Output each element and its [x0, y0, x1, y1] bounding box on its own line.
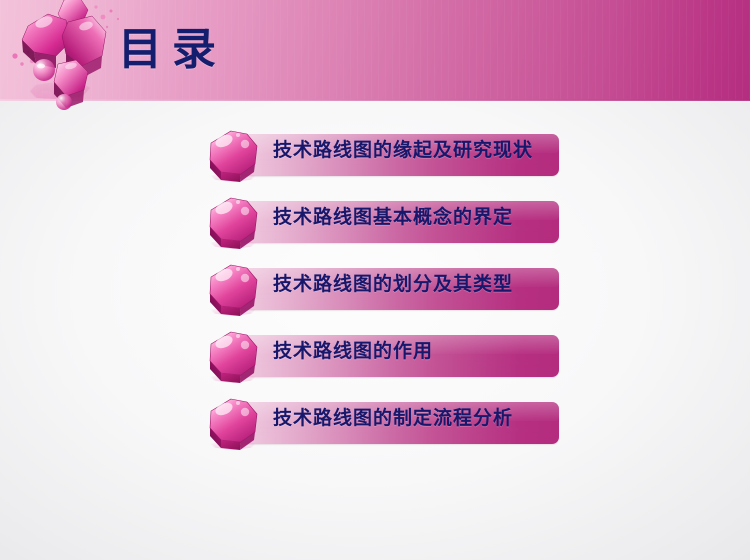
presentation-slide: 目录: [0, 0, 750, 560]
gem-badge-icon: [207, 398, 259, 452]
page-title: 目录: [118, 28, 226, 72]
list-item[interactable]: 5 技术路线图的制定流程分析: [207, 398, 559, 462]
gem-cluster-icon: [8, 0, 128, 126]
gem-badge-icon: [207, 331, 259, 385]
item-label: 技术路线图的划分及其类型: [273, 272, 513, 298]
item-label: 技术路线图的缘起及研究现状: [273, 138, 533, 164]
item-label: 技术路线图的作用: [273, 339, 433, 365]
list-item[interactable]: 4 技术路线图的作用: [207, 331, 559, 395]
gem-badge-icon: [207, 264, 259, 318]
item-label: 技术路线图的制定流程分析: [273, 406, 513, 432]
list-item[interactable]: 2 技术路线图基本概念的界定: [207, 197, 559, 261]
list-item[interactable]: 1 技术路线图的缘起及研究现状: [207, 130, 559, 194]
item-label: 技术路线图基本概念的界定: [273, 205, 513, 231]
list-item[interactable]: 3 技术路线图的划分及其类型: [207, 264, 559, 328]
gem-badge-icon: [207, 197, 259, 251]
gem-badge-icon: [207, 130, 259, 184]
